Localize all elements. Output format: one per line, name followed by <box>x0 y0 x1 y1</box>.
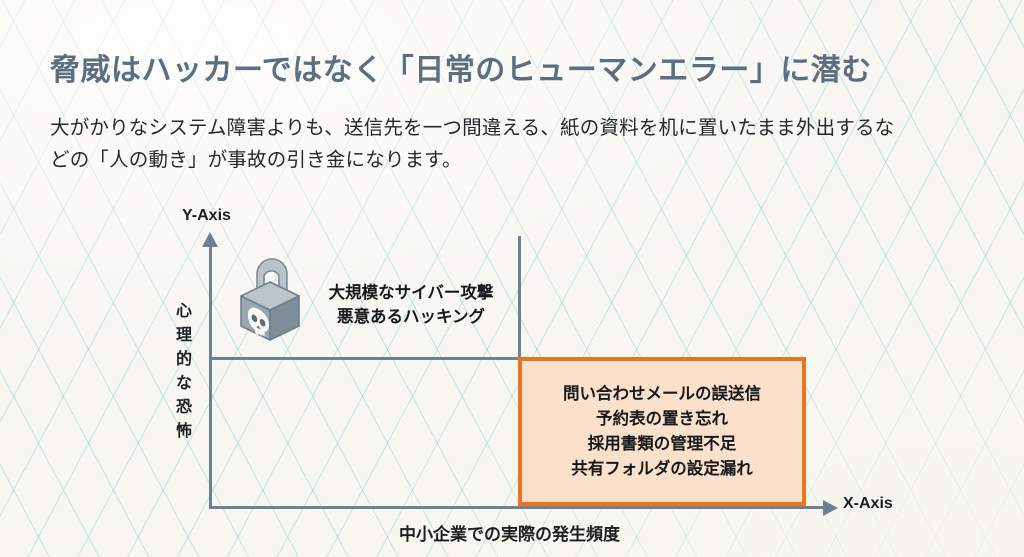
x-axis-label: X-Axis <box>843 495 893 513</box>
y-axis-label: Y-Axis <box>182 207 231 225</box>
quadrant-highlight-human-error: 問い合わせメールの誤送信 予約表の置き忘れ 採用書類の管理不足 共有フォルダの設… <box>518 357 806 506</box>
quadrant-vertical-divider <box>518 236 521 360</box>
x-axis-line <box>209 506 826 509</box>
x-axis-caption: 中小企業での実際の発生頻度 <box>399 520 620 545</box>
human-error-item: 採用書類の管理不足 <box>588 432 737 457</box>
y-axis-caption-char: 恐 <box>172 396 196 420</box>
y-axis-caption-char: 的 <box>172 348 196 372</box>
quadrant-chart: Y-Axis X-Axis 心 理 的 な 恐 怖 中小企業での実際の発生頻度 <box>0 190 1024 557</box>
y-axis-caption-char: な <box>172 372 196 396</box>
human-error-item: 共有フォルダの設定漏れ <box>571 457 753 482</box>
y-axis-caption-char: 理 <box>172 324 196 348</box>
human-error-item: 問い合わせメールの誤送信 <box>563 382 761 407</box>
y-axis-caption-char: 心 <box>172 300 196 324</box>
slide-canvas: 脅威はハッカーではなく「日常のヒューマンエラー」に潜む 大がかりなシステム障害よ… <box>0 0 1024 557</box>
quadrant-label-line: 悪意あるハッキング <box>306 305 516 329</box>
human-error-item: 予約表の置き忘れ <box>596 407 728 432</box>
lead-paragraph: 大がかりなシステム障害よりも、送信先を一つ間違える、紙の資料を机に置いたまま外出… <box>50 112 910 176</box>
quadrant-horizontal-divider <box>211 357 520 360</box>
y-axis-arrow-icon <box>202 232 218 247</box>
padlock-skull-icon <box>231 252 309 344</box>
y-axis-caption: 心 理 的 な 恐 怖 <box>172 300 196 444</box>
quadrant-label-line: 大規模なサイバー攻撃 <box>306 281 516 305</box>
y-axis-caption-char: 怖 <box>172 420 196 444</box>
page-title: 脅威はハッカーではなく「日常のヒューマンエラー」に潜む <box>50 45 872 89</box>
y-axis-line <box>209 245 212 509</box>
x-axis-arrow-icon <box>823 500 838 516</box>
quadrant-label-cyber-attack: 大規模なサイバー攻撃 悪意あるハッキング <box>306 281 516 329</box>
